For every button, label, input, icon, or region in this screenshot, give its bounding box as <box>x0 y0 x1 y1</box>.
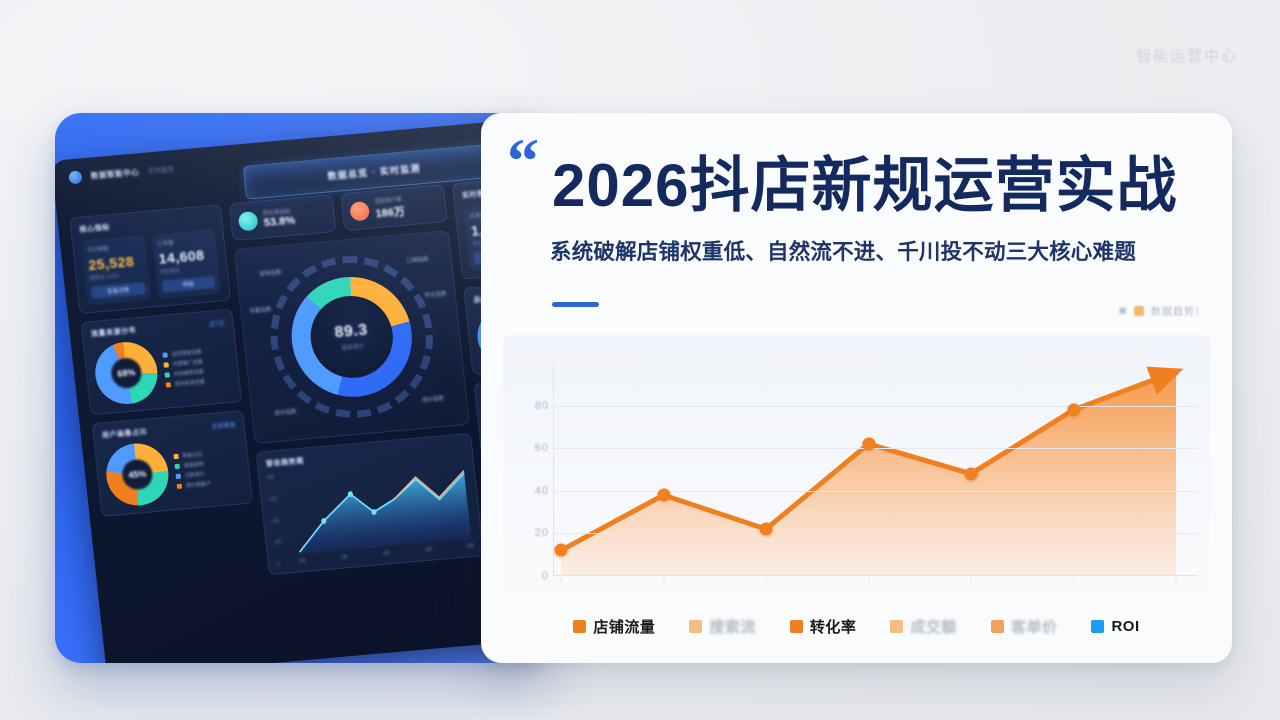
y-tick: 4万 <box>272 516 293 524</box>
trend-panel-title: 营收趋势图 <box>265 456 304 469</box>
donut-top-link[interactable]: 近7日 <box>209 318 225 328</box>
data-point[interactable] <box>862 437 875 450</box>
legend-item[interactable]: 客单价 <box>991 616 1058 637</box>
y-tick-label: 0 <box>542 570 549 582</box>
gridline <box>553 533 1198 534</box>
chart-icon: ▣ <box>1118 305 1127 316</box>
legend-label: 高价值客户 <box>185 480 211 489</box>
data-point[interactable] <box>1067 403 1080 416</box>
legend-swatch <box>175 473 181 478</box>
legend-label: 老客复购 <box>183 460 204 469</box>
x-tick <box>1176 577 1177 582</box>
x-tick: 2月 <box>340 554 348 561</box>
data-point[interactable] <box>554 544 567 557</box>
metric-chip[interactable]: 转化率指标 53.8% <box>229 194 337 241</box>
chart-plot-area <box>553 363 1198 576</box>
gauge-tag: 流量指数 <box>249 305 272 315</box>
y-tick-label: 80 <box>535 400 549 412</box>
kpi-panel: 核心指标 今日销售 25,528 较昨日 +12% 查看详情 订单量 14,60… <box>69 204 231 314</box>
x-tick <box>1073 577 1074 582</box>
x-tick: 3月 <box>383 550 391 557</box>
gridline <box>553 448 1198 449</box>
trend-chart: 8万 6万 4万 2万 0 <box>267 457 474 566</box>
data-point[interactable] <box>964 467 977 480</box>
legend-swatch <box>573 620 586 633</box>
dashboard-subtitle: 实时监控 <box>148 164 175 175</box>
gauge-tag: 转化指数 <box>424 289 447 299</box>
y-tick: 0 <box>277 560 297 567</box>
chart-top-legend: ▣ 数据趋势） <box>1118 303 1206 318</box>
legend-item[interactable]: ROI <box>1091 618 1139 635</box>
y-tick-label: 40 <box>535 485 549 497</box>
donut-bottom-title: 用户画像占比 <box>101 426 148 440</box>
kpi-button[interactable]: 明细 <box>161 276 216 293</box>
y-tick: 8万 <box>267 473 288 481</box>
x-tick <box>560 577 561 582</box>
legend-swatch <box>163 362 169 367</box>
legend-item[interactable]: 搜索流 <box>689 616 756 637</box>
legend-label: 店铺流量 <box>593 616 655 637</box>
kpi-card[interactable]: 订单量 14,608 环比增长 明细 <box>151 229 221 299</box>
legend-swatch <box>177 483 183 488</box>
data-point[interactable] <box>760 523 773 536</box>
gauge-value: 89.3 <box>334 322 369 343</box>
content-card: “ 2026抖店新规运营实战 系统破解店铺权重低、自然流不进、千川投不动三大核心… <box>481 113 1232 663</box>
donut-top-legend: 自然搜索流量 付费推广流量 内容推荐流量 其他来源流量 <box>162 348 205 388</box>
gauge-tag: 复购指数 <box>259 268 282 278</box>
y-tick-label: 20 <box>535 527 549 539</box>
x-tick: 4月 <box>425 547 433 554</box>
donut-chart-traffic: 68% <box>92 340 160 407</box>
donut-bottom-center: 45% <box>121 458 154 490</box>
x-tick <box>766 577 767 582</box>
gridline <box>553 491 1198 492</box>
chart-y-axis: 806040200 <box>509 363 549 576</box>
kpi-value: 14,608 <box>158 246 213 267</box>
dashboard-mockup: 数据智能中心 实时监控 管理员 在线 数据总览 · 实时监测 核心指标 今日销售 <box>55 113 550 663</box>
legend-label: 付费推广流量 <box>172 358 203 368</box>
legend-label: 沉默用户 <box>184 470 205 479</box>
donut-top-title: 流量来源分布 <box>90 325 137 339</box>
legend-item: 沉默用户 <box>175 470 210 480</box>
x-tick: 1月 <box>298 558 306 565</box>
app-logo-icon <box>68 170 82 184</box>
dashboard-title: 数据智能中心 <box>90 166 140 181</box>
dashboard-showcase-card: 数据智能中心 实时监控 管理员 在线 数据总览 · 实时监测 核心指标 今日销售 <box>55 113 550 663</box>
x-tick <box>970 577 971 582</box>
legend-label: 客单价 <box>1011 616 1058 637</box>
legend-item[interactable]: 转化率 <box>790 616 857 637</box>
legend-label: 转化率 <box>810 616 857 637</box>
y-tick: 2万 <box>274 538 295 546</box>
legend-label: 自然搜索流量 <box>171 348 202 358</box>
legend-swatch <box>174 463 180 468</box>
legend-item: 新客占比 <box>173 450 208 460</box>
chart-series-svg <box>553 363 1198 576</box>
y-tick: 6万 <box>270 495 291 503</box>
trend-panel: 营收趋势图 8万 6万 4万 2万 0 <box>256 433 485 575</box>
legend-item: 其他来源流量 <box>165 378 205 388</box>
gauge-tag: 成长指数 <box>274 407 297 417</box>
donut-bottom-link[interactable]: 全部渠道 <box>211 419 236 430</box>
legend-label: 新客占比 <box>182 450 203 459</box>
legend-swatch <box>689 620 702 633</box>
page-subtitle: 系统破解店铺权重低、自然流不进、千川投不动三大核心难题 <box>550 235 1218 266</box>
x-tick <box>868 577 869 582</box>
donut-top-center: 68% <box>110 357 143 389</box>
y-tick-label: 60 <box>535 442 549 454</box>
legend-swatch <box>890 620 903 633</box>
x-tick <box>663 577 664 582</box>
legend-item: 自然搜索流量 <box>162 348 202 358</box>
conversion-icon <box>238 210 259 231</box>
legend-swatch <box>173 453 179 458</box>
donut-chart-users: 45% <box>103 441 171 508</box>
data-point[interactable] <box>657 489 670 502</box>
gridline <box>553 406 1198 407</box>
chip-value: 53.8% <box>263 215 295 230</box>
page-title: 2026抖店新规运营实战 <box>552 155 1212 216</box>
x-tick: 5月 <box>467 543 475 550</box>
dashboard-banner-text: 数据总览 · 实时监测 <box>327 161 421 182</box>
donut-panel-top: 流量来源分布 近7日 68% 自然搜索流量 付费推广流量 内容推荐流量 其他来源… <box>81 308 243 415</box>
kpi-value: 25,528 <box>88 252 143 273</box>
chart-bottom-legend: 店铺流量搜索流转化率成交额客单价ROI <box>481 616 1232 637</box>
legend-item: 付费推广流量 <box>163 358 203 368</box>
legend-item[interactable]: 成交额 <box>890 616 957 637</box>
legend-label: ROI <box>1111 618 1139 635</box>
gauge-tag: 增长指数 <box>422 394 445 404</box>
legend-swatch <box>991 620 1004 633</box>
legend-swatch <box>162 352 168 357</box>
donut-panel-bottom: 用户画像占比 全部渠道 45% 新客占比 老客复购 沉默用户 高价值客户 <box>92 410 254 517</box>
trend-plot <box>289 459 473 554</box>
legend-label: 搜索流 <box>709 616 756 637</box>
watermark: 智能运营中心 <box>1136 45 1238 66</box>
accent-bar <box>552 302 599 307</box>
gauge-label: 综合评分 <box>341 342 364 352</box>
chip-value: 186万 <box>375 203 406 222</box>
dashboard-column-left: 核心指标 今日销售 25,528 较昨日 +12% 查看详情 订单量 14,60… <box>69 204 261 589</box>
legend-swatch <box>166 382 172 387</box>
dashboard-column-center: 转化率指标 53.8% 活跃用户数 186万 <box>229 184 485 575</box>
kpi-panel-title: 核心指标 <box>79 222 110 235</box>
legend-item[interactable]: 店铺流量 <box>573 616 655 637</box>
legend-item: 内容推荐流量 <box>164 368 204 378</box>
chart-top-legend-label: 数据趋势） <box>1151 303 1206 318</box>
kpi-button[interactable]: 查看详情 <box>91 282 146 299</box>
legend-label: 内容推荐流量 <box>173 368 204 378</box>
kpi-card[interactable]: 今日销售 25,528 较昨日 +12% 查看详情 <box>81 235 151 305</box>
legend-swatch <box>164 372 170 377</box>
growth-area-chart: 806040200 <box>503 335 1210 610</box>
metric-chip[interactable]: 活跃用户数 186万 <box>340 184 448 231</box>
legend-swatch <box>1091 620 1104 633</box>
gauge-panel: 89.3 综合评分 流量指数 转化指数 复购指数 口碑指数 成长指数 增长指数 <box>234 230 470 444</box>
legend-item: 高价值客户 <box>176 480 211 490</box>
legend-swatch <box>790 620 803 633</box>
legend-label: 其他来源流量 <box>174 378 205 388</box>
donut-bottom-legend: 新客占比 老客复购 沉默用户 高价值客户 <box>173 450 211 490</box>
legend-label: 成交额 <box>910 616 957 637</box>
gauge-tag: 口碑指数 <box>406 255 429 265</box>
legend-item: 老客复购 <box>174 460 209 470</box>
dashboard-grid: 核心指标 今日销售 25,528 较昨日 +12% 查看详情 订单量 14,60… <box>69 170 550 590</box>
active-users-icon <box>349 200 370 221</box>
legend-swatch <box>1134 306 1144 316</box>
quote-mark-icon: “ <box>507 129 539 193</box>
